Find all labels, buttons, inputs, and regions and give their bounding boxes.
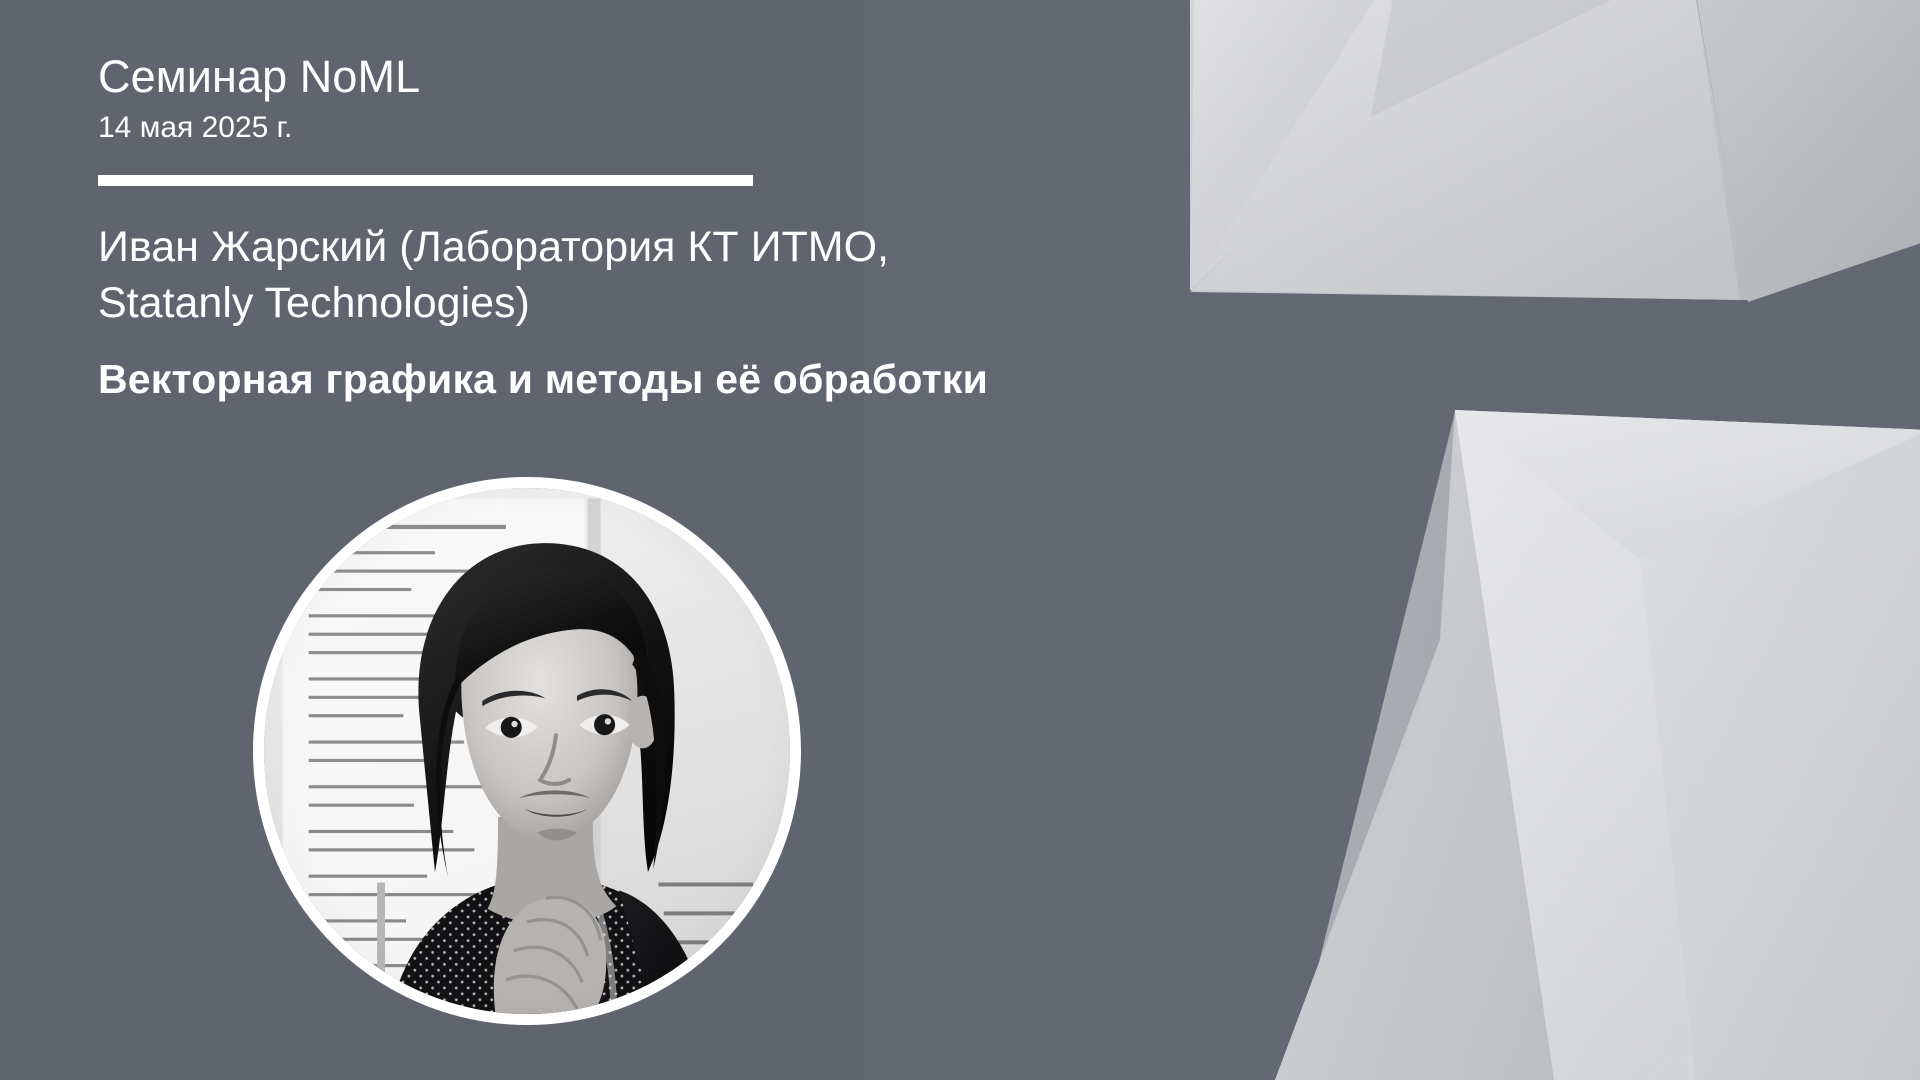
top-right-polygon-group xyxy=(1190,0,1920,302)
divider-bar xyxy=(98,175,753,186)
presentation-slide: Семинар NoML 14 мая 2025 г. Иван Жарский… xyxy=(0,0,1920,1080)
speaker-photo xyxy=(264,488,790,1014)
slide-text-block: Семинар NoML 14 мая 2025 г. Иван Жарский… xyxy=(98,52,1198,405)
speaker-portrait xyxy=(253,477,801,1025)
speaker-name-line-1: Иван Жарский (Лаборатория КТ ИТМО, xyxy=(98,220,1108,276)
seminar-name: Семинар NoML xyxy=(98,52,1198,102)
talk-title: Векторная графика и методы её обработки xyxy=(98,354,1198,405)
seminar-date: 14 мая 2025 г. xyxy=(98,108,1198,147)
speaker-name-line-2: Statanly Technologies) xyxy=(98,276,1108,332)
bottom-right-polygon-group xyxy=(1260,410,1920,1080)
speaker-name-affiliation: Иван Жарский (Лаборатория КТ ИТМО, Stata… xyxy=(98,220,1108,332)
